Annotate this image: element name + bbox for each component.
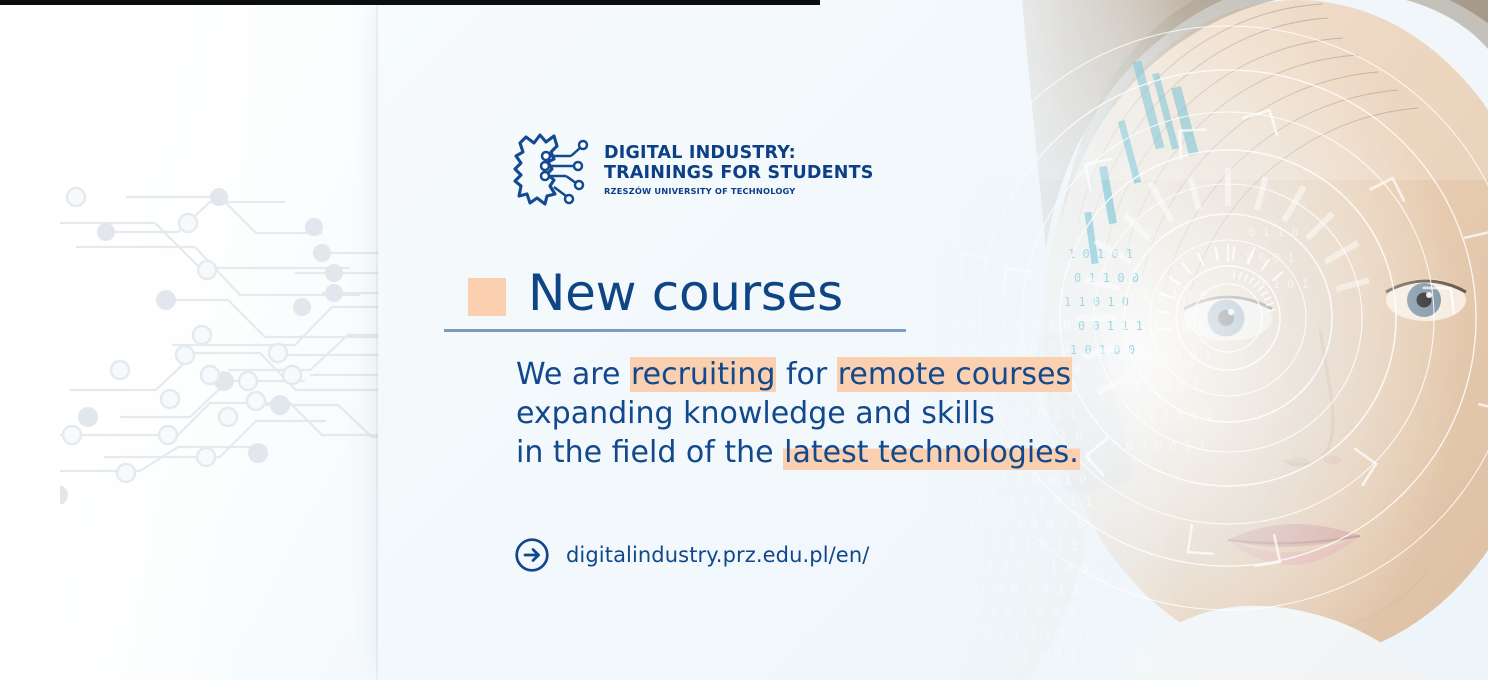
arrow-circle-right-icon bbox=[514, 537, 550, 573]
logo-line-2: TRAININGS FOR STUDENTS bbox=[604, 163, 874, 183]
body-line-1: We are recruiting for remote courses bbox=[516, 355, 1080, 394]
svg-text:0 0 1 0 1 1: 0 0 1 0 1 1 bbox=[1120, 379, 1199, 393]
body-line-1-part-2: for bbox=[776, 357, 836, 392]
top-black-bar bbox=[0, 0, 820, 5]
highlight-latest-technologies: latest technologies. bbox=[783, 435, 1080, 470]
page-title-text: New courses bbox=[528, 262, 843, 324]
svg-text:0 1 1 0: 0 1 1 0 bbox=[1248, 225, 1299, 239]
square-bullet-icon bbox=[468, 278, 506, 316]
promotional-banner: 0 1 0 1 1 0 0 1 0 1 0 0 1 0 1 1 0 1 0 1 … bbox=[0, 0, 1488, 680]
logo-line-1: DIGITAL INDUSTRY: bbox=[604, 143, 874, 163]
panel-edge-shadow bbox=[376, 0, 379, 680]
highlight-remote-courses: remote courses bbox=[837, 357, 1072, 392]
project-logo[interactable]: DIGITAL INDUSTRY: TRAININGS FOR STUDENTS… bbox=[508, 128, 874, 210]
svg-text:0 1 0 0 1 1: 0 1 0 0 1 1 bbox=[1126, 439, 1205, 453]
body-line-3: in the field of the latest technologies. bbox=[516, 433, 1080, 472]
logo-line-3: RZESZÓW UNIVERSITY OF TECHNOLOGY bbox=[604, 185, 874, 198]
website-link[interactable]: digitalindustry.prz.edu.pl/en/ bbox=[514, 537, 869, 573]
page-title: New courses bbox=[468, 262, 843, 324]
body-paragraph: We are recruiting for remote courses exp… bbox=[516, 355, 1080, 472]
svg-text:1 0 1 1 0 0: 1 0 1 1 0 0 bbox=[1134, 409, 1213, 423]
banner-content: DIGITAL INDUSTRY: TRAININGS FOR STUDENTS… bbox=[444, 0, 1084, 680]
website-link-text[interactable]: digitalindustry.prz.edu.pl/en/ bbox=[566, 543, 869, 567]
highlight-recruiting: recruiting bbox=[630, 357, 776, 392]
title-divider bbox=[444, 329, 906, 332]
body-line-2: expanding knowledge and skills bbox=[516, 394, 1080, 433]
gear-circuit-icon bbox=[508, 128, 596, 210]
body-line-3-part-1: in the field of the bbox=[516, 435, 783, 470]
body-line-1-part-1: We are bbox=[516, 357, 630, 392]
logo-wordmark: DIGITAL INDUSTRY: TRAININGS FOR STUDENTS… bbox=[604, 141, 874, 198]
circuit-board-pattern bbox=[60, 185, 400, 505]
svg-text:0 1 0 1: 0 1 0 1 bbox=[1258, 277, 1309, 291]
svg-text:0 0 1 1 1: 0 0 1 1 1 bbox=[1078, 319, 1143, 333]
